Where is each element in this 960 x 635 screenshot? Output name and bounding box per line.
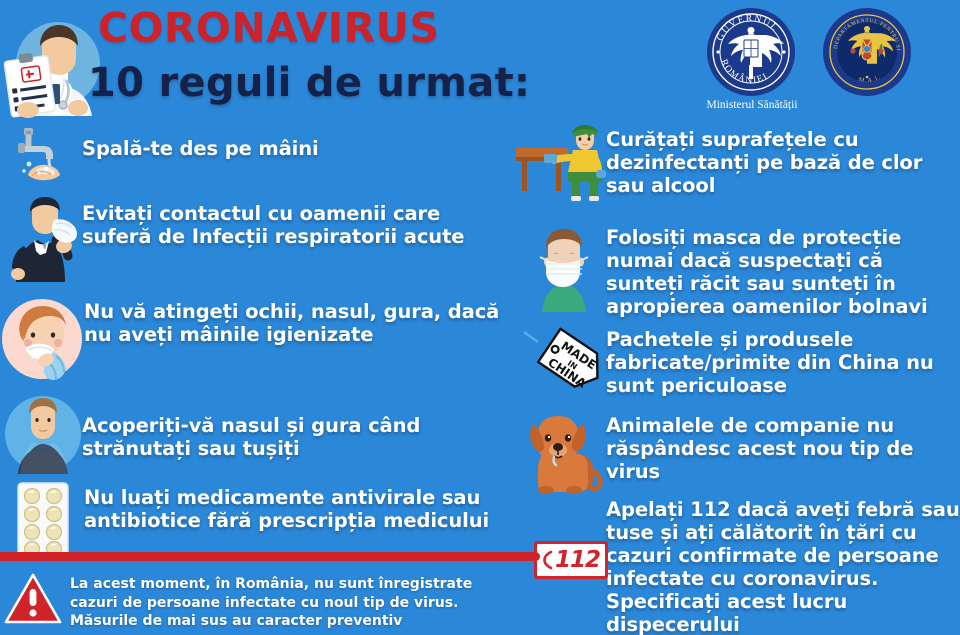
- badge-inner: 112: [537, 544, 605, 576]
- rule-item: Curățați suprafețele cu dezinfectanți pe…: [516, 126, 960, 226]
- rule-item: Evitați contactul cu oamenii care suferă…: [0, 194, 510, 290]
- rule-text: Curățați suprafețele cu dezinfectanți pe…: [606, 126, 960, 197]
- rule-text: Evitați contactul cu oamenii care suferă…: [82, 194, 510, 248]
- puppy-dog-icon: [516, 410, 606, 492]
- poster-header: CORONAVIRUS 10 reguli de urmat: GUVERNUL…: [0, 0, 960, 126]
- rule-item: Acoperiți-vă nasul și gura când strănuta…: [0, 392, 510, 480]
- emergency-number: 112: [555, 549, 600, 572]
- rule-text: Acoperiți-vă nasul și gura când strănuta…: [82, 392, 510, 460]
- warning-block: La acest moment, în România, nu sunt înr…: [4, 572, 524, 631]
- coronavirus-infographic-poster: CORONAVIRUS 10 reguli de urmat: GUVERNUL…: [0, 0, 960, 635]
- red-divider: [0, 552, 540, 561]
- man-coughing-tissue-icon: [4, 194, 82, 286]
- rule-text: Nu vă atingeți ochii, nasul, gura, dacă …: [82, 290, 510, 346]
- rules-column-left: Spală-te des pe mâini: [0, 126, 510, 570]
- rule-item: Nu vă atingeți ochii, nasul, gura, dacă …: [0, 290, 510, 392]
- handwashing-faucet-icon: [4, 126, 82, 190]
- rule-item: Spală-te des pe mâini: [0, 126, 510, 194]
- ministry-label: Ministerul Sănătății: [684, 99, 820, 111]
- page-title: CORONAVIRUS: [98, 4, 440, 52]
- departamentul-situatii-urgenta-emblem: DEPARTAMENTUL PENTRU SITUAȚII DE URGENȚĂ…: [822, 7, 912, 97]
- made-in-china-tag-icon: MADE IN CHINA: [516, 326, 606, 406]
- rule-text: Nu luați medicamente antivirale sau anti…: [82, 480, 510, 532]
- rule-text: Spală-te des pe mâini: [82, 126, 319, 160]
- warning-text: La acest moment, în România, nu sunt înr…: [62, 572, 524, 631]
- rule-text: Apelați 112 dacă aveți febră sau tuse și…: [606, 498, 960, 635]
- person-face-mask-icon: [516, 226, 606, 312]
- rule-text: Animalele de companie nu răspândesc aces…: [606, 410, 960, 483]
- child-touching-face-icon: [2, 290, 82, 388]
- pill-blister-pack-icon: [8, 480, 82, 562]
- emergency-112-badge: 112: [534, 541, 608, 579]
- rule-item: Animalele de companie nu răspândesc aces…: [516, 410, 960, 498]
- child-cleaning-surface-icon: [516, 126, 606, 202]
- page-subtitle: 10 reguli de urmat:: [88, 60, 530, 106]
- rule-item: Folosiți masca de protecție numai dacă s…: [516, 226, 960, 326]
- warning-triangle-icon: [4, 572, 62, 626]
- rule-text: Folosiți masca de protecție numai dacă s…: [606, 226, 960, 318]
- rule-text: Pachetele și produsele fabricate/primite…: [606, 326, 960, 397]
- guvernul-romaniei-emblem: GUVERNUL ROMÂNIEI: [706, 7, 796, 97]
- cover-sneeze-icon: [4, 392, 82, 476]
- phone-handset-icon: [542, 550, 554, 570]
- rule-item: MADE IN CHINA Pachetele și produsele fab…: [516, 326, 960, 410]
